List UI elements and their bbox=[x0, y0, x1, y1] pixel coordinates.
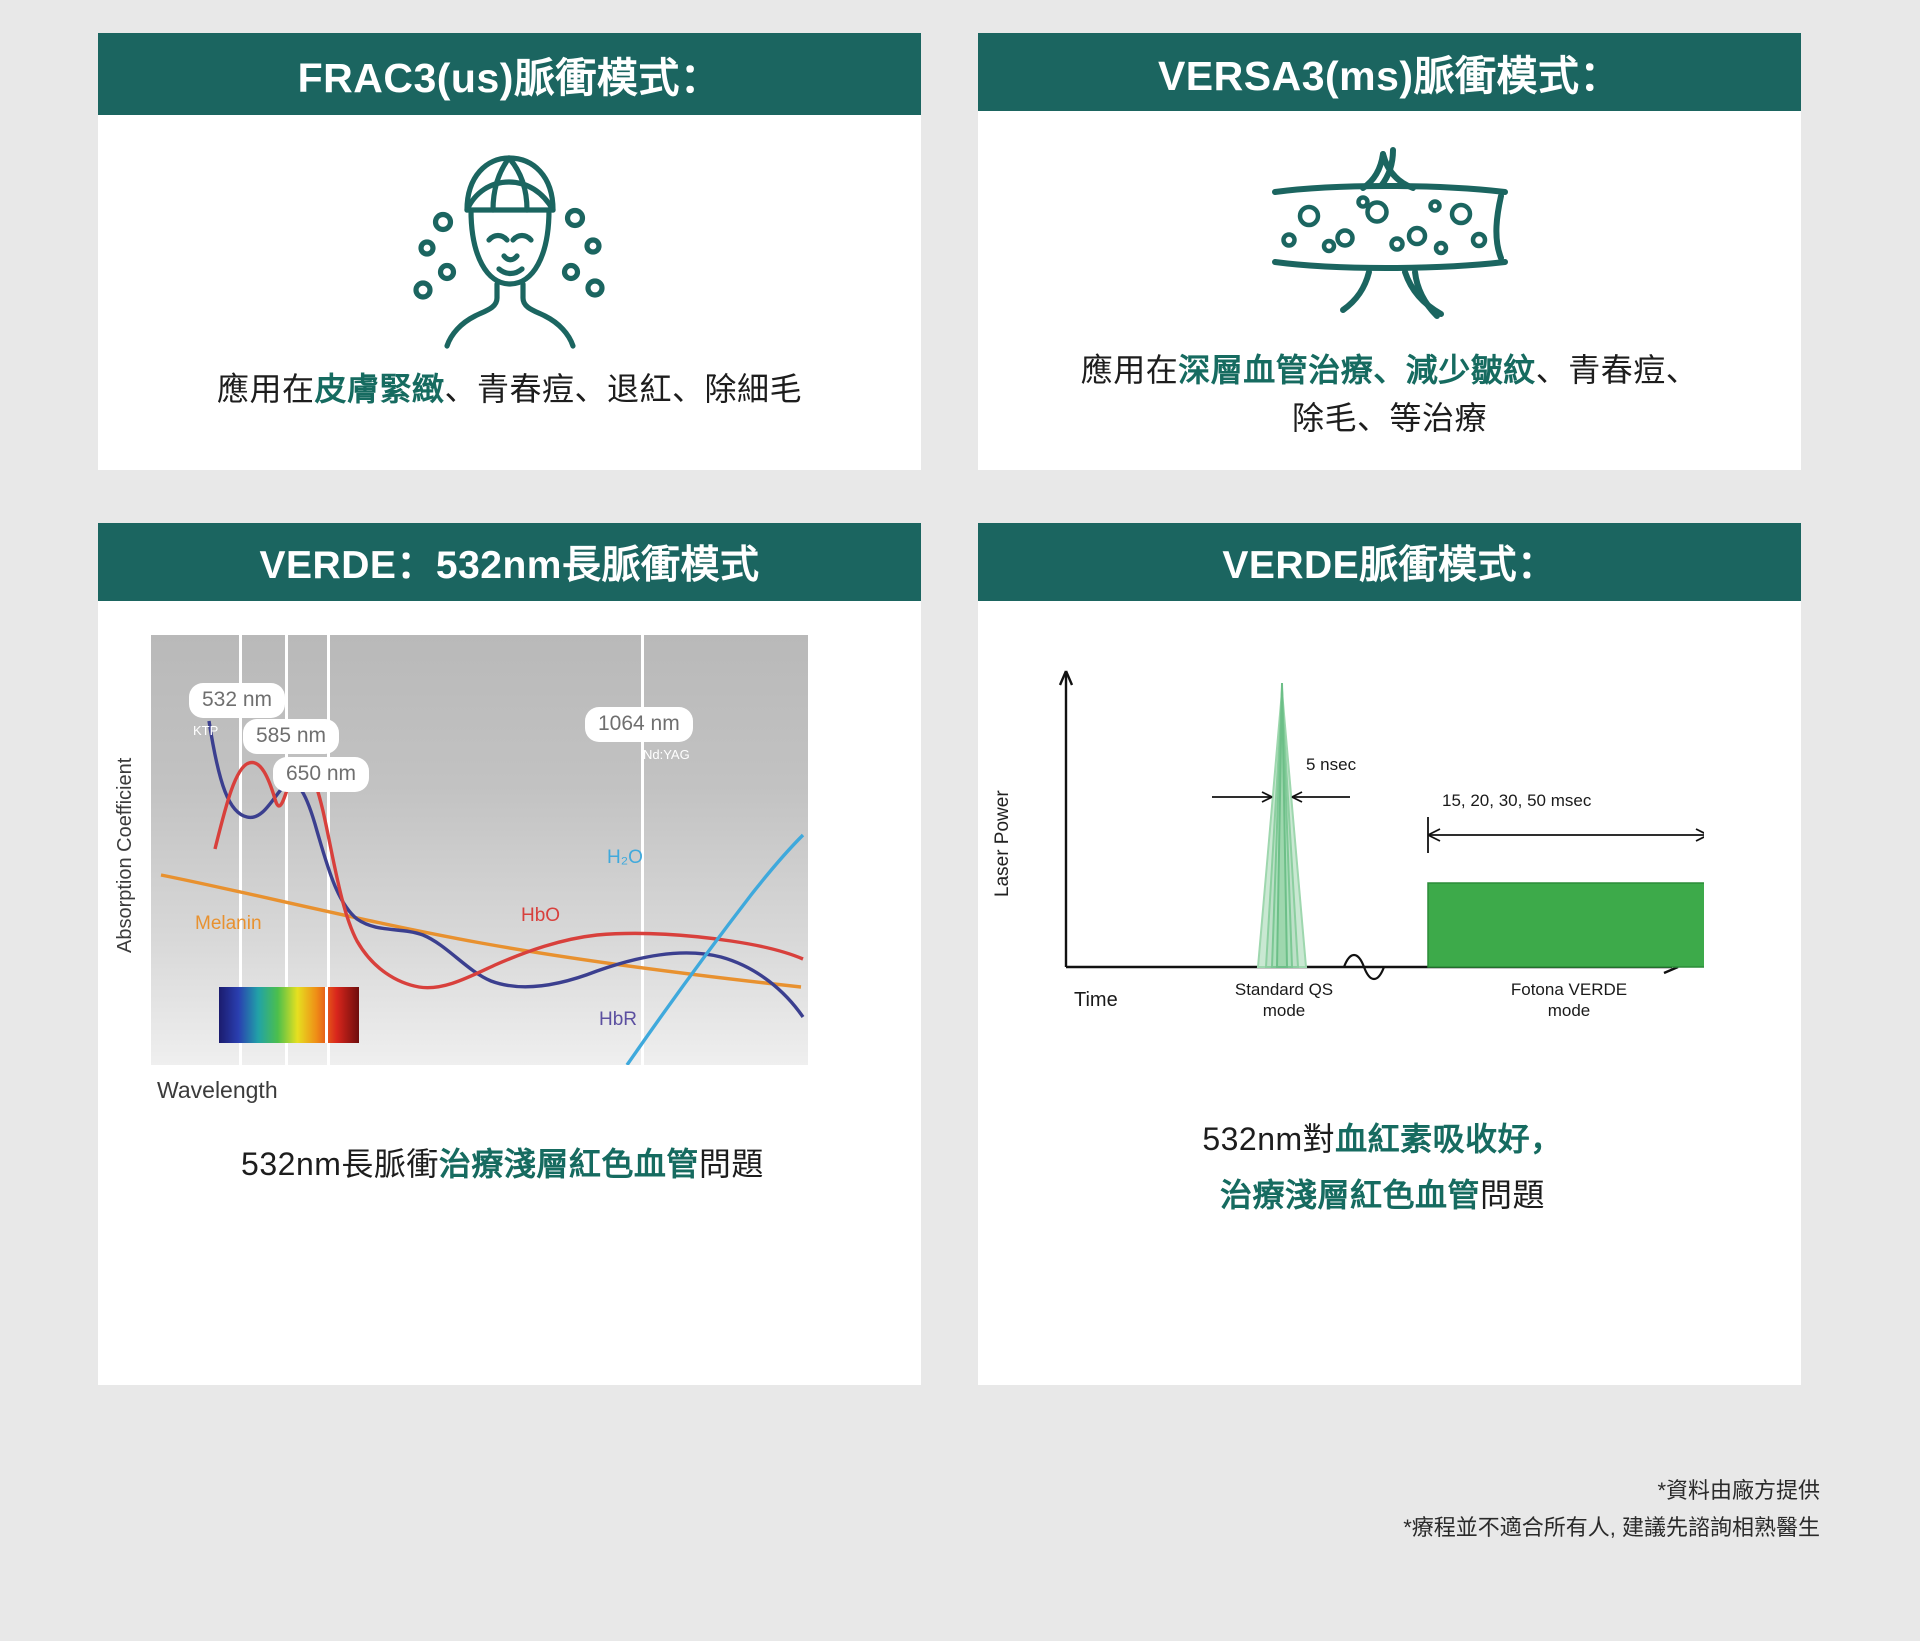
footnotes: *資料由廠方提供 *療程並不適合所有人, 建議先諮詢相熟醫生 bbox=[1403, 1472, 1820, 1547]
curve-label-melanin: Melanin bbox=[195, 913, 262, 935]
caption-highlight: 血紅素吸收好， bbox=[1335, 1121, 1563, 1157]
marker-label-650: 650 nm bbox=[273, 757, 369, 792]
card-verde-long-body: Absorption Coefficient bbox=[98, 601, 921, 1385]
icon-wrap-frac3 bbox=[122, 135, 897, 365]
card-frac3: FRAC3(us)脈衝模式： bbox=[98, 33, 921, 470]
icon-wrap-versa3 bbox=[1002, 131, 1777, 346]
caption-prefix: 532nm對 bbox=[1202, 1121, 1335, 1157]
card-verde-pulse-caption: 532nm對血紅素吸收好， 治療淺層紅色血管問題 bbox=[1202, 1111, 1562, 1223]
card-verde-long: VERDE：532nm長脈衝模式 Absorption Coefficient bbox=[98, 523, 921, 1385]
pulse-category-fotona-verde: Fotona VERDE mode bbox=[1504, 979, 1634, 1022]
card-versa3-caption: 應用在深層血管治療、減少皺紋、青春痘、 除毛、等治療 bbox=[1081, 346, 1699, 442]
footnote-line-1: *資料由廠方提供 bbox=[1403, 1472, 1820, 1509]
pulse-plot-svg bbox=[1044, 667, 1704, 1027]
card-frac3-caption: 應用在皮膚緊緻、青春痘、退紅、除細毛 bbox=[217, 365, 802, 413]
pulse-y-axis-label: Laser Power bbox=[988, 667, 1044, 1027]
caption-line2-suffix: 問題 bbox=[1480, 1177, 1545, 1213]
caption-prefix: 應用在 bbox=[1081, 352, 1179, 388]
annotation-msec-range: 15, 20, 30, 50 msec bbox=[1442, 791, 1591, 811]
card-verde-long-title: VERDE：532nm長脈衝模式 bbox=[98, 523, 921, 601]
card-versa3-body: 應用在深層血管治療、減少皺紋、青春痘、 除毛、等治療 bbox=[978, 111, 1801, 470]
caption-prefix: 532nm長脈衝 bbox=[241, 1146, 439, 1182]
card-versa3: VERSA3(ms)脈衝模式： bbox=[978, 33, 1801, 470]
card-grid: FRAC3(us)脈衝模式： bbox=[98, 33, 1823, 1385]
curve-label-h2o: H₂O bbox=[607, 847, 643, 869]
marker-label-585: 585 nm bbox=[243, 719, 339, 754]
card-frac3-title: FRAC3(us)脈衝模式： bbox=[98, 33, 921, 115]
card-versa3-title: VERSA3(ms)脈衝模式： bbox=[978, 33, 1801, 111]
caption-line2-highlight: 治療淺層紅色血管 bbox=[1220, 1177, 1480, 1213]
pulse-x-axis-label: Time bbox=[1074, 989, 1118, 1012]
marker-label-1064: 1064 nm bbox=[585, 707, 693, 742]
woman-face-with-towel-icon bbox=[405, 148, 615, 353]
absorption-x-axis-label: Wavelength bbox=[151, 1065, 897, 1104]
absorption-plot-area: 532 nm KTP 585 nm 650 nm 1064 nm Nd:YAG … bbox=[151, 635, 808, 1065]
caption-highlight: 皮膚緊緻 bbox=[314, 371, 444, 407]
annotation-5-nsec: 5 nsec bbox=[1306, 755, 1356, 775]
card-verde-long-caption: 532nm長脈衝治療淺層紅色血管問題 bbox=[241, 1140, 764, 1188]
caption-highlight: 治療淺層紅色血管 bbox=[439, 1146, 699, 1182]
pulse-chart: Laser Power bbox=[988, 641, 1777, 1027]
visible-spectrum-bar bbox=[219, 987, 359, 1043]
footnote-line-2: *療程並不適合所有人, 建議先諮詢相熟醫生 bbox=[1403, 1509, 1820, 1546]
caption-line2: 除毛、等治療 bbox=[1292, 400, 1487, 436]
caption-highlight: 深層血管治療、減少皺紋 bbox=[1178, 352, 1536, 388]
curve-label-hbr: HbR bbox=[599, 1009, 637, 1031]
marker-sublabel-ktp: KTP bbox=[193, 723, 218, 738]
marker-label-532: 532 nm bbox=[189, 683, 285, 718]
blood-vessel-icon bbox=[1265, 144, 1515, 334]
card-verde-pulse-body: Laser Power bbox=[978, 601, 1801, 1385]
caption-suffix: 、青春痘、 bbox=[1536, 352, 1699, 388]
absorption-chart: Absorption Coefficient bbox=[108, 627, 897, 1104]
absorption-plot-column: 532 nm KTP 585 nm 650 nm 1064 nm Nd:YAG … bbox=[151, 635, 897, 1104]
pulse-plot-area: 5 nsec 15, 20, 30, 50 msec Standard QS m… bbox=[1044, 667, 1704, 1027]
caption-suffix: 問題 bbox=[699, 1146, 764, 1182]
caption-suffix: 、青春痘、退紅、除細毛 bbox=[445, 371, 803, 407]
marker-sublabel-ndyag: Nd:YAG bbox=[643, 747, 690, 762]
card-verde-pulse: VERDE脈衝模式： Laser Power bbox=[978, 523, 1801, 1385]
curve-label-hbo: HbO bbox=[521, 905, 560, 927]
caption-prefix: 應用在 bbox=[217, 371, 315, 407]
pulse-category-standard-qs: Standard QS mode bbox=[1220, 979, 1348, 1022]
page-root: FRAC3(us)脈衝模式： bbox=[0, 0, 1920, 1641]
card-verde-pulse-title: VERDE脈衝模式： bbox=[978, 523, 1801, 601]
card-frac3-body: 應用在皮膚緊緻、青春痘、退紅、除細毛 bbox=[98, 115, 921, 470]
absorption-y-axis-label: Absorption Coefficient bbox=[108, 635, 151, 1104]
